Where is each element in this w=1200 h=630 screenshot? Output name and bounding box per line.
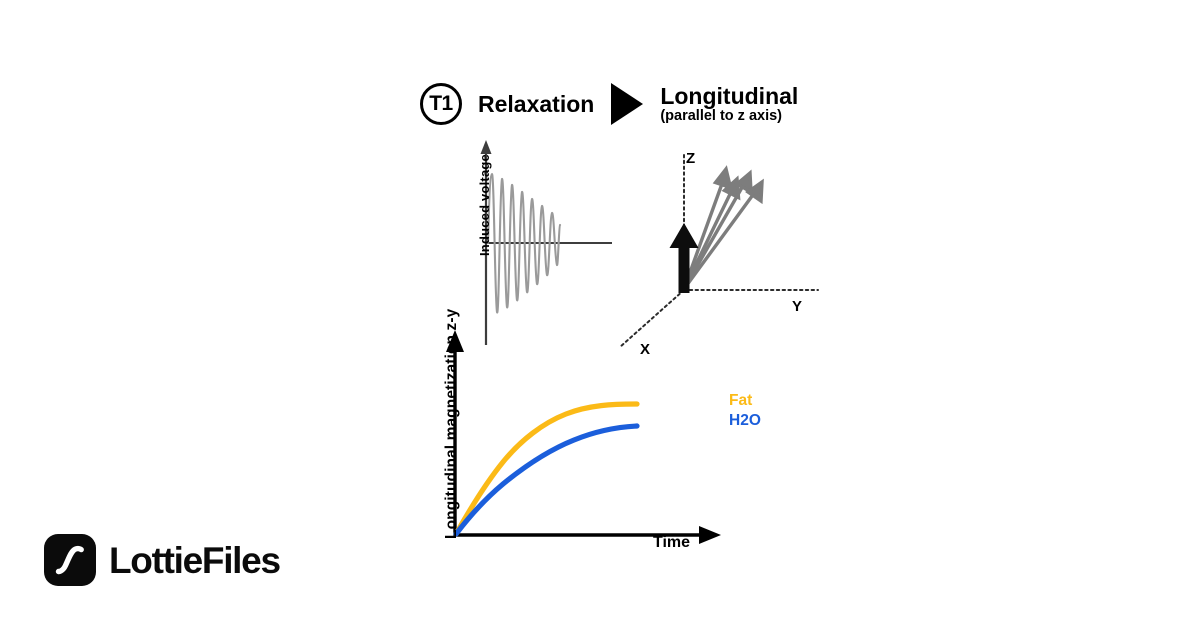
longitudinal-title: Longitudinal bbox=[660, 84, 798, 108]
fat-recovery-curve bbox=[456, 404, 637, 534]
header-row: T1 Relaxation Longitudinal (parallel to … bbox=[420, 78, 798, 130]
time-axis-label: Time bbox=[653, 534, 690, 552]
fid-y-axis-label: Induced voltage bbox=[477, 154, 492, 256]
lottiefiles-logo: LottieFiles bbox=[44, 534, 280, 586]
t1-recovery-chart bbox=[446, 330, 721, 544]
fid-y-axis-arrowhead bbox=[481, 140, 492, 154]
spin-vector-4 bbox=[684, 182, 762, 289]
fid-chart bbox=[481, 140, 613, 345]
magnetization-vector-diagram bbox=[620, 155, 818, 347]
lottiefiles-wordmark: LottieFiles bbox=[109, 542, 280, 579]
fid-signal-curve bbox=[488, 174, 560, 313]
legend-item-fat: Fat bbox=[729, 391, 761, 411]
spin-vector-3 bbox=[684, 173, 751, 289]
longitudinal-heading-block: Longitudinal (parallel to z axis) bbox=[660, 84, 798, 124]
longitudinal-subtitle: (parallel to z axis) bbox=[660, 109, 798, 124]
recovery-x-axis-arrowhead bbox=[699, 526, 721, 544]
h2o-recovery-curve bbox=[456, 426, 637, 534]
t1-circle-badge: T1 bbox=[420, 83, 462, 125]
x-axis-label: X bbox=[640, 341, 650, 358]
lottiefiles-s-mark-icon bbox=[44, 534, 96, 586]
spin-vector-fan bbox=[684, 169, 762, 289]
recovery-y-axis-label: Longitudinal magnetization z-y bbox=[443, 309, 461, 539]
legend-item-h2o: H2O bbox=[729, 411, 761, 431]
x-axis-dotted-line bbox=[620, 290, 684, 347]
chart-legend: Fat H2O bbox=[729, 391, 761, 431]
play-triangle-icon bbox=[611, 83, 643, 125]
z-axis-label: Z bbox=[686, 150, 695, 167]
relaxation-label: Relaxation bbox=[478, 91, 594, 118]
y-axis-label: Y bbox=[792, 298, 802, 315]
